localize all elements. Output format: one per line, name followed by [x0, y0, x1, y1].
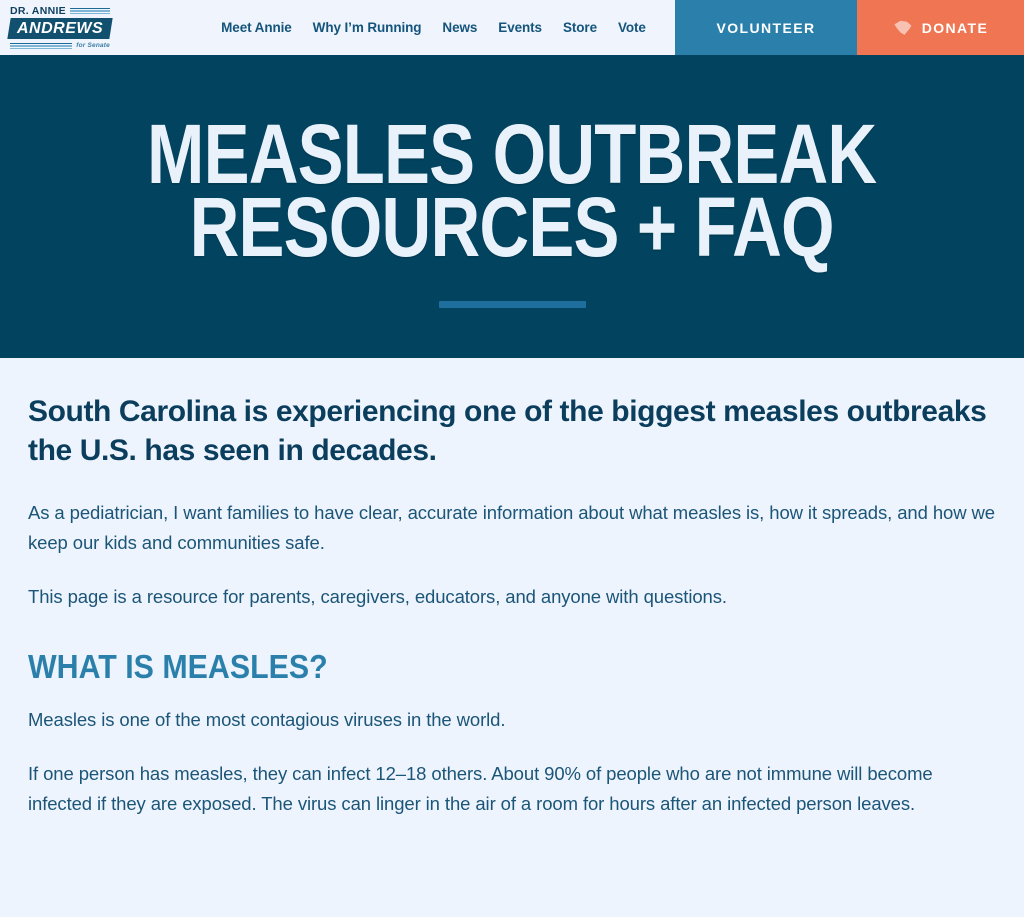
campaign-logo: DR. ANNIE ANDREWS for Senate [10, 5, 110, 51]
main-navigation: Meet Annie Why I’m Running News Events S… [200, 0, 675, 55]
hero-title-line-2: Resources + FAQ [190, 180, 834, 274]
hero-banner: Measles Outbreak Resources + FAQ [0, 58, 1024, 358]
nav-item-meet-annie[interactable]: Meet Annie [221, 20, 292, 35]
logo-rule-lines-bottom [10, 42, 72, 50]
logo-dr-annie-text: DR. ANNIE [10, 5, 66, 17]
logo-name-band: ANDREWS [8, 19, 111, 38]
nav-item-news[interactable]: News [442, 20, 477, 35]
nav-item-events[interactable]: Events [498, 20, 542, 35]
logo-link[interactable]: DR. ANNIE ANDREWS for Senate [0, 0, 200, 55]
volunteer-button-label: VOLUNTEER [717, 20, 816, 36]
nav-item-store[interactable]: Store [563, 20, 597, 35]
donate-button[interactable]: DONATE [857, 0, 1024, 55]
site-header: DR. ANNIE ANDREWS for Senate Meet Annie … [0, 0, 1024, 58]
lede-heading: South Carolina is experiencing one of th… [28, 392, 996, 470]
intro-paragraph-2: This page is a resource for parents, car… [28, 582, 996, 612]
nav-item-vote[interactable]: Vote [618, 20, 646, 35]
logo-rule-lines-top [70, 7, 110, 15]
section-heading-what-is-measles: What is Measles? [28, 648, 919, 686]
intro-paragraph-1: As a pediatrician, I want families to ha… [28, 498, 996, 558]
logo-andrews-text: ANDREWS [17, 19, 103, 38]
hero-divider [439, 301, 586, 308]
nav-item-why-im-running[interactable]: Why I’m Running [313, 20, 422, 35]
donate-button-label: DONATE [922, 20, 988, 36]
logo-top-row: DR. ANNIE [10, 5, 110, 17]
main-content: South Carolina is experiencing one of th… [0, 358, 1024, 849]
page-title: Measles Outbreak Resources + FAQ [147, 118, 876, 262]
south-carolina-state-icon [893, 20, 913, 36]
measles-paragraph-2: If one person has measles, they can infe… [28, 759, 996, 819]
logo-for-senate-text: for Senate [76, 42, 110, 49]
volunteer-button[interactable]: VOLUNTEER [675, 0, 857, 55]
logo-bottom-row: for Senate [10, 41, 110, 51]
measles-paragraph-1: Measles is one of the most contagious vi… [28, 705, 996, 735]
